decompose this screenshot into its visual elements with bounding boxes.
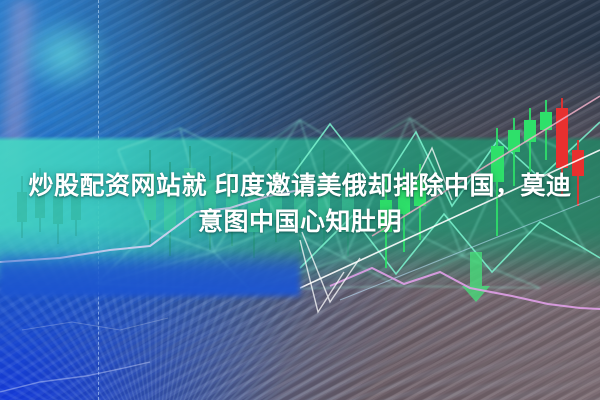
- headline: 炒股配资网站就 印度邀请美俄却排除中国，莫迪 意图中国心知肚明: [0, 168, 600, 240]
- banner-image: 炒股配资网站就 印度邀请美俄却排除中国，莫迪 意图中国心知肚明: [0, 0, 600, 400]
- band-bottom-fade: [0, 250, 300, 296]
- headline-line-2: 意图中国心知肚明: [0, 204, 600, 240]
- down-arrow-marker: [462, 252, 490, 302]
- headline-line-1: 炒股配资网站就 印度邀请美俄却排除中国，莫迪: [0, 168, 600, 204]
